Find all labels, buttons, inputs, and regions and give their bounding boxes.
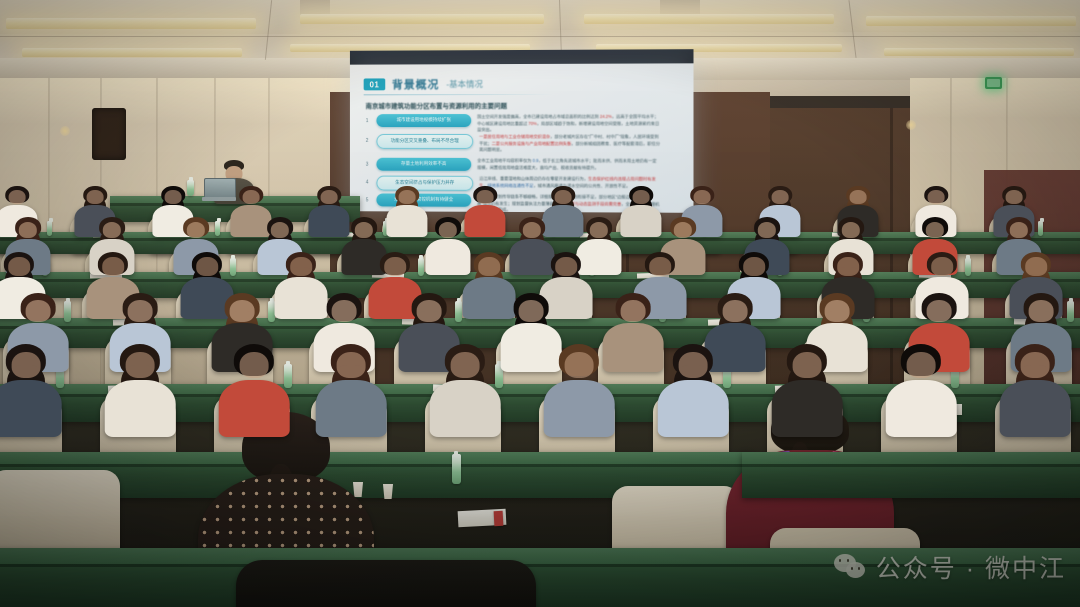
slide-row-number: 1	[364, 114, 371, 124]
attendee	[543, 344, 615, 424]
slide-row-number: 4	[364, 176, 371, 186]
attendee-torso	[1000, 380, 1071, 438]
attendee-head	[926, 222, 944, 238]
attendee-head	[230, 300, 255, 322]
ceiling-light-strip	[884, 48, 1074, 56]
slide-bullet-row: 3存量土地利用效率不高全市工业用地平均容积率仅为 0.9，低于长三角先进城市水平…	[364, 158, 660, 172]
attendee-head	[837, 257, 859, 276]
attendee-head	[290, 257, 312, 276]
attendee-torso	[772, 380, 843, 438]
attendee-torso	[620, 205, 661, 237]
attendee-head	[1006, 190, 1023, 204]
slide-row-text: 全市工业用地平均容积率仅为 0.9，低于长三角先进城市水平；批而未供、供而未用土…	[477, 158, 660, 171]
attendee	[999, 344, 1071, 424]
attendee	[0, 344, 62, 424]
attendee-head	[907, 352, 936, 378]
attendee-head	[9, 190, 26, 204]
attendee-head	[187, 222, 205, 238]
ceiling-light-strip	[22, 48, 242, 57]
ceiling-light-strip	[300, 14, 544, 24]
attendee-torso	[316, 380, 387, 438]
attendee-head	[337, 352, 366, 378]
attendee-head	[8, 257, 30, 276]
slide-lead-text: 南京城市建筑功能分区布置与资源利用的主要问题	[366, 100, 507, 110]
attendee-torso	[0, 380, 61, 438]
slide-title-row: 01 背景概况 -基本情况	[364, 76, 483, 92]
slide-row-text: 一是居住用地与工业仓储用地交织混杂，部分老城片区存在“厂中村、村中厂”现象，人居…	[479, 134, 662, 154]
attendee-head	[850, 190, 867, 204]
ceiling-light-strip	[584, 14, 834, 24]
wall-speaker	[92, 108, 126, 160]
attendee	[771, 344, 843, 424]
attendee	[218, 344, 290, 424]
handout-card-accent	[494, 511, 504, 526]
attendee-head	[927, 300, 952, 322]
slide-row-pill: 功能分区交叉重叠、布局不尽合理	[376, 134, 473, 149]
attendee-head	[196, 257, 218, 276]
attendee-head	[355, 222, 373, 238]
attendee	[429, 344, 501, 424]
attendee	[885, 344, 957, 424]
attendee-head	[633, 190, 650, 204]
attendee-torso	[219, 380, 290, 438]
attendee-head	[674, 222, 692, 238]
attendee-head	[399, 190, 416, 204]
slide-row-number: 2	[364, 134, 371, 144]
attendee-head	[417, 300, 442, 322]
attendee-head	[128, 300, 153, 322]
attendee-head	[772, 190, 789, 204]
attendee-head	[451, 352, 480, 378]
ceiling-light-strip	[866, 16, 1076, 26]
attendee	[104, 344, 176, 424]
attendee-head	[87, 190, 104, 204]
slide-section-badge: 01	[364, 78, 386, 90]
attendee-head	[439, 222, 457, 238]
slide-title-rule	[364, 94, 552, 95]
attendee-head	[384, 257, 406, 276]
attendee-head	[723, 300, 748, 322]
slide-row-number: 3	[364, 158, 371, 168]
attendee-torso	[658, 380, 729, 438]
slide-bullet-list: 1城市建设用地规模持续扩张国土空间开发强度偏高，全市已建设用地占市域总面积的比例…	[350, 63, 694, 64]
attendee-head	[758, 222, 776, 238]
slide-row-pill: 存量土地利用效率不高	[376, 158, 471, 171]
attendee-head	[1010, 222, 1028, 238]
chair-bottom-foreground	[236, 560, 536, 607]
attendee-head	[649, 257, 671, 276]
attendee	[315, 344, 387, 424]
attendee-head	[477, 190, 494, 204]
attendee-head	[555, 190, 572, 204]
slide-row-text: 国土空间开发强度偏高，全市已建设用地占市域总面积的比例达到 24.2%，远高于全…	[477, 114, 660, 134]
attendee-head	[590, 222, 608, 238]
attendee-head	[165, 190, 182, 204]
attendee-torso	[105, 380, 176, 438]
attendee-head	[478, 257, 500, 276]
attendee-head	[271, 222, 289, 238]
ceiling-light-strip	[6, 18, 256, 29]
attendee-head	[621, 300, 646, 322]
attendee-head	[26, 300, 51, 322]
attendee-head	[842, 222, 860, 238]
attendee-head	[12, 352, 41, 378]
attendee-head	[321, 190, 338, 204]
slide-title: 背景概况	[392, 76, 439, 92]
attendee-torso	[430, 380, 501, 438]
attendee-head	[555, 257, 577, 276]
audience-table-bottom	[0, 548, 1080, 607]
attendee-head	[825, 300, 850, 322]
slide-row-pill: 城市建设用地规模持续扩张	[376, 114, 471, 127]
attendee-head	[523, 222, 541, 238]
attendee-head	[694, 190, 711, 204]
attendee-head	[519, 300, 544, 322]
attendee-head	[19, 222, 37, 238]
slide-bullet-row: 2功能分区交叉重叠、布局不尽合理一是居住用地与工业仓储用地交织混杂，部分老城片区…	[364, 134, 662, 154]
attendee-head	[565, 352, 594, 378]
attendee-torso	[886, 380, 957, 438]
exit-sign-icon	[985, 77, 1002, 89]
attendee-head	[103, 222, 121, 238]
audience-table-front-right	[742, 452, 1080, 498]
attendee-head	[102, 257, 124, 276]
attendee-head	[793, 352, 822, 378]
attendee-head	[928, 190, 945, 204]
attendee	[657, 344, 729, 424]
attendee-torso	[544, 380, 615, 438]
screen-top-bar	[350, 49, 694, 64]
slide-bullet-row: 1城市建设用地规模持续扩张国土空间开发强度偏高，全市已建设用地占市域总面积的比例…	[364, 114, 660, 134]
attendee-head	[931, 257, 953, 276]
attendee-head	[1021, 352, 1050, 378]
attendee-head	[743, 257, 765, 276]
slide-row-number: 5	[364, 193, 371, 203]
conference-room-photo: 01 背景概况 -基本情况 南京城市建筑功能分区布置与资源利用的主要问题 1城市…	[0, 0, 1080, 607]
attendee-head	[1025, 257, 1047, 276]
attendee-head	[243, 190, 260, 204]
attendee-head	[1029, 300, 1054, 322]
slide-title-sub: -基本情况	[446, 78, 483, 90]
attendee-head	[126, 352, 155, 378]
attendee-head	[332, 300, 357, 322]
water-bottle	[452, 454, 461, 484]
attendee-head	[679, 352, 708, 378]
attendee	[620, 186, 662, 230]
attendee-torso	[386, 205, 427, 237]
attendee	[386, 186, 428, 230]
attendee-head	[240, 352, 269, 378]
